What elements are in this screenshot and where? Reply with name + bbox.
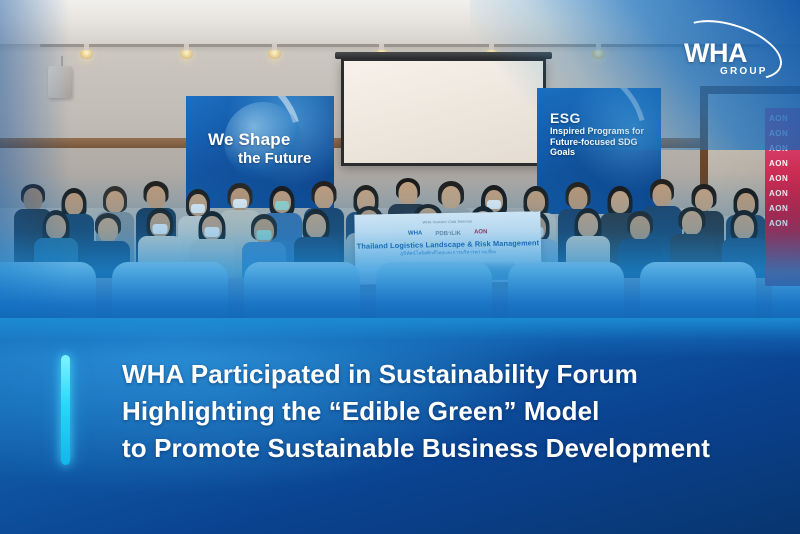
aon-logo-repeat: AON <box>769 174 800 183</box>
wha-news-banner: We Shape the Future ESG Inspired Program… <box>0 0 800 534</box>
aon-logo-repeat: AON <box>769 144 800 153</box>
spotlight-icon <box>180 44 193 59</box>
spotlight-icon <box>592 44 605 59</box>
headline-line-3: to Promote Sustainable Business Developm… <box>122 430 722 467</box>
track-light-rail <box>40 44 760 47</box>
spotlight-icon <box>268 44 281 59</box>
pdb-logo-small: PDBาLIK <box>435 228 461 238</box>
headline: WHA Participated in Sustainability Forum… <box>122 356 722 467</box>
aon-logo-repeat: AON <box>769 129 800 138</box>
logo-wordmark: WHA <box>684 38 747 69</box>
wha-group-logo[interactable]: WHA GROUP <box>678 28 782 80</box>
aon-logo-repeat: AON <box>769 204 800 213</box>
panel-top-fade <box>0 318 800 358</box>
wha-logo-small: WHA <box>408 230 422 236</box>
wall-speaker <box>48 66 72 98</box>
spotlight-icon <box>80 44 93 59</box>
aon-logo-small: AON <box>474 229 487 235</box>
headline-line-2: Highlighting the “Edible Green” Model <box>122 393 722 430</box>
logo-group-text: GROUP <box>720 66 768 77</box>
aon-logo-repeat: AON <box>769 159 800 168</box>
headline-line-1: WHA Participated in Sustainability Forum <box>122 356 722 393</box>
aon-logo-repeat: AON <box>769 189 800 198</box>
held-banner-pretitle: WHA Investor Club Seminar <box>354 218 540 226</box>
aon-logo-repeat: AON <box>769 219 800 228</box>
aon-logo-repeat: AON <box>769 114 800 123</box>
esg-title: ESG <box>550 110 581 126</box>
cyan-accent-bar <box>61 355 70 465</box>
aon-side-banner: AON AON AON AON AON AON AON AON <box>765 108 800 286</box>
